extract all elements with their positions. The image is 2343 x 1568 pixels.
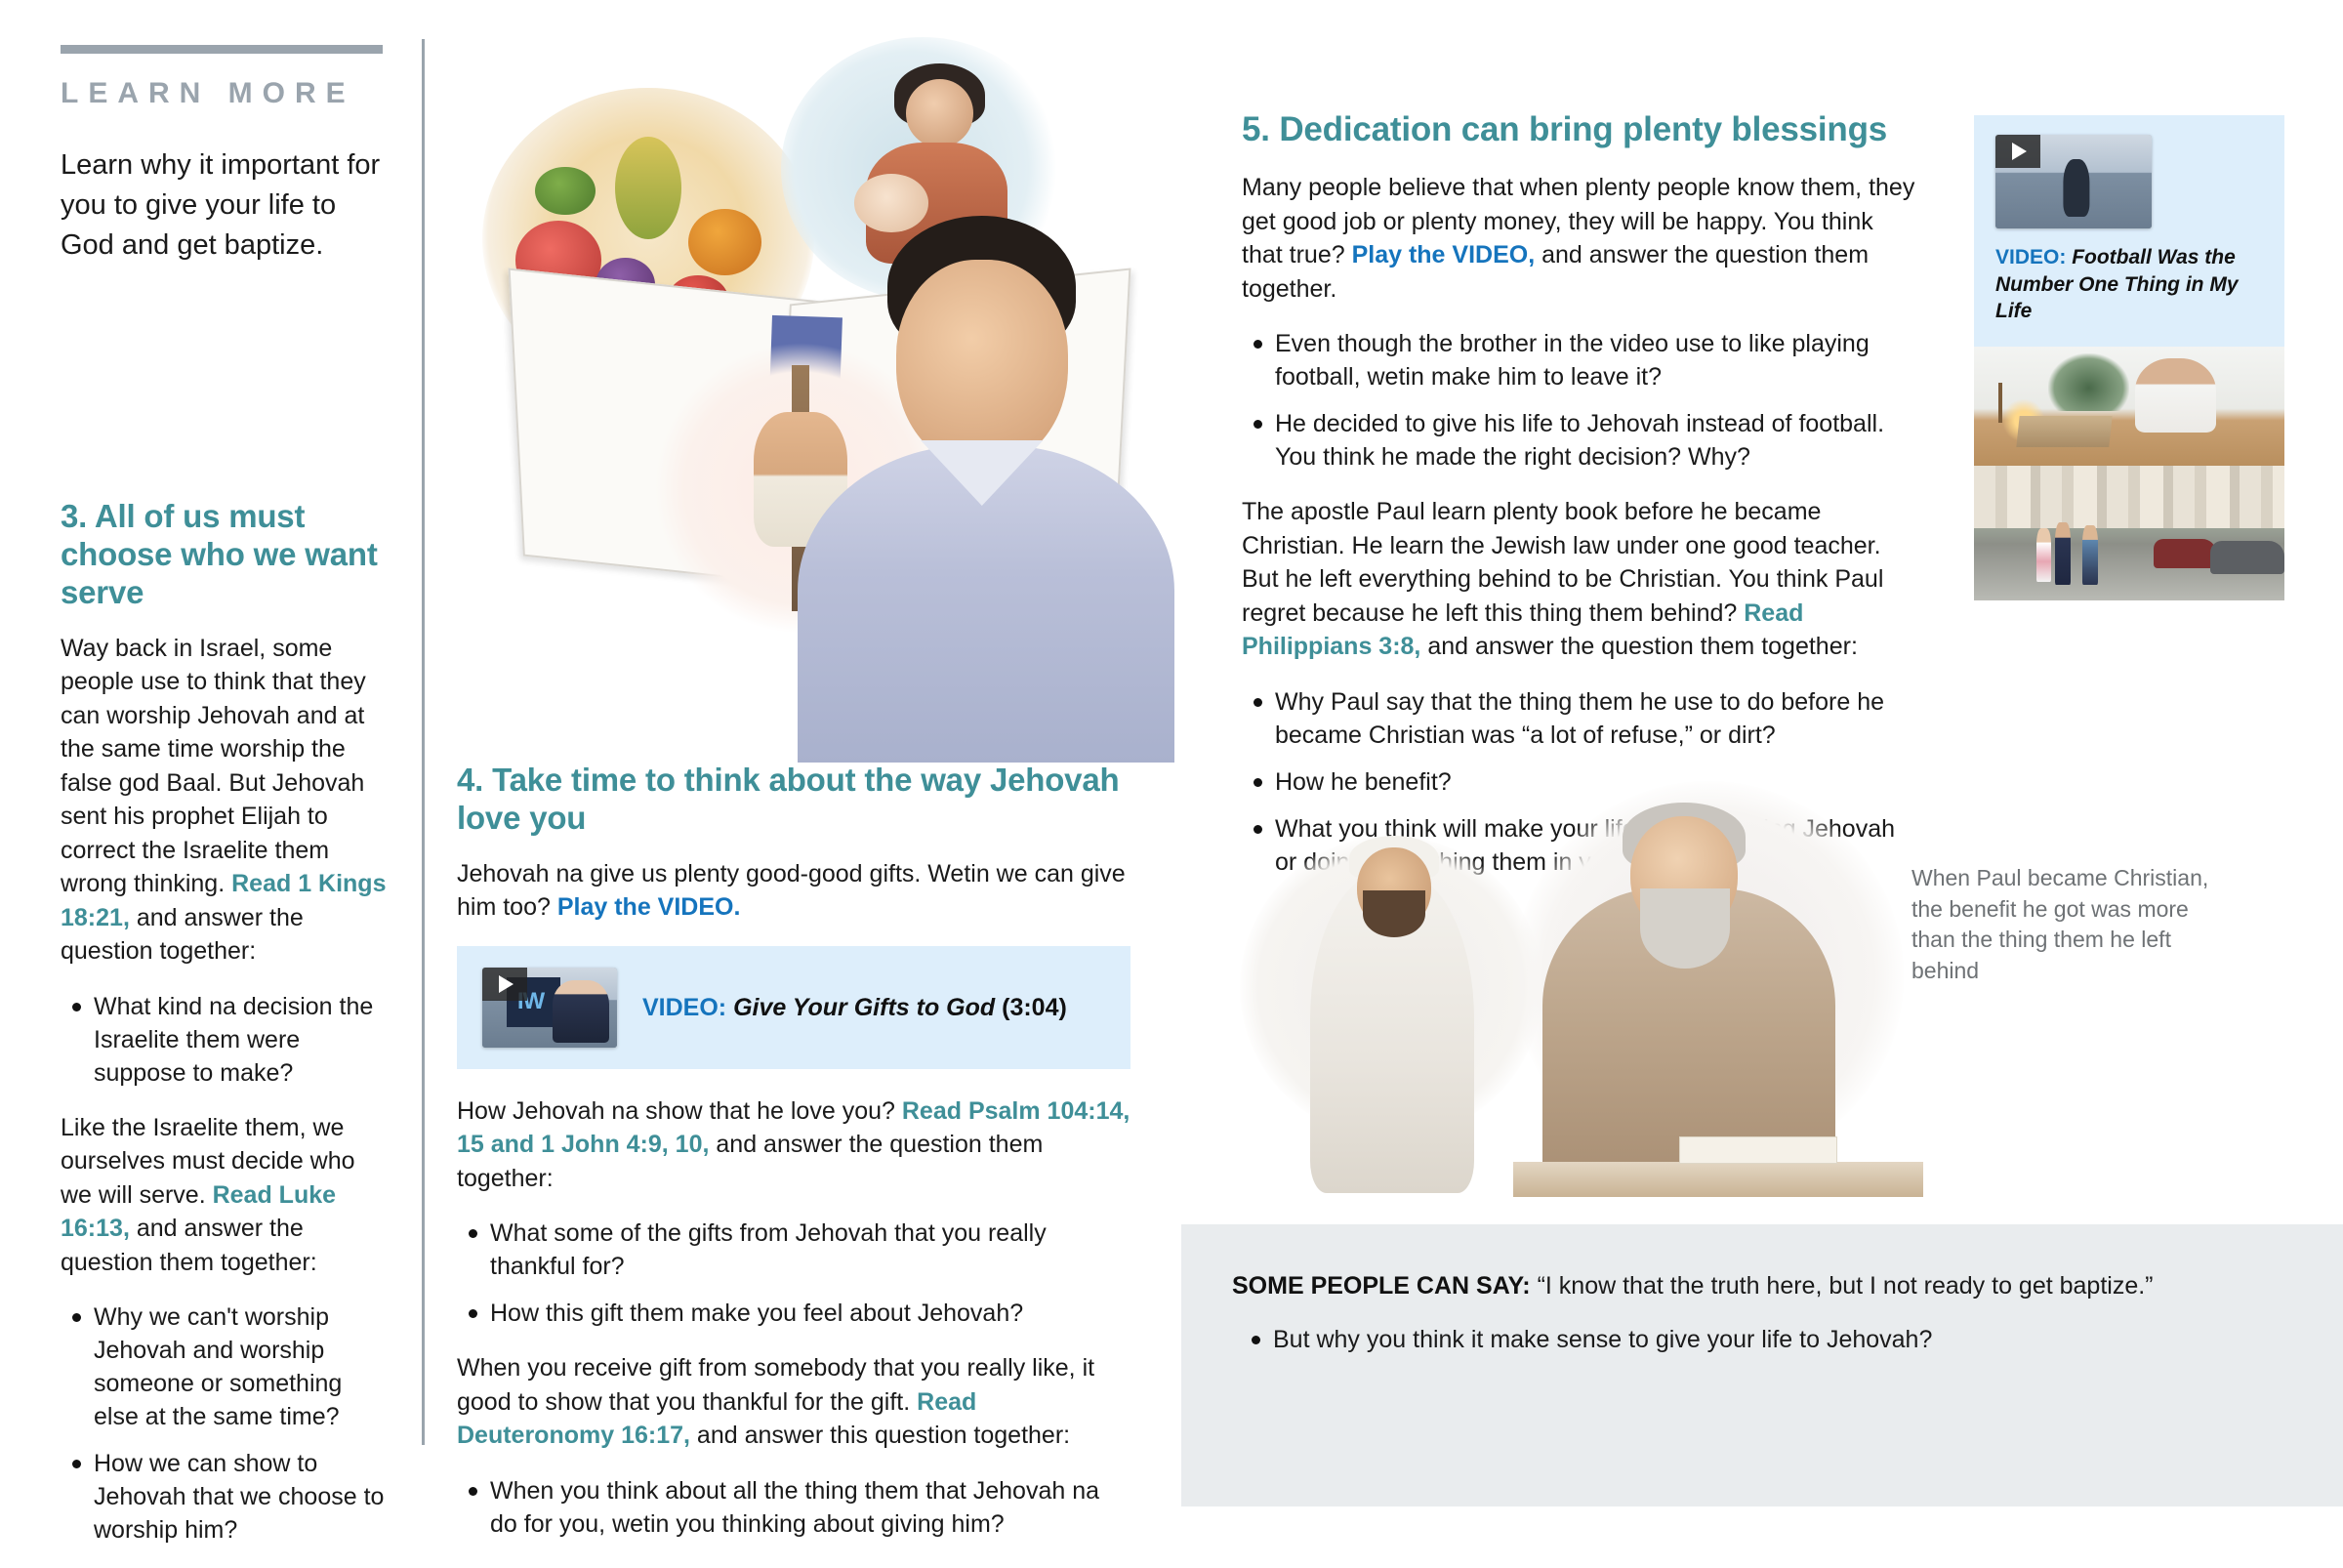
section-5-paragraph-1: Many people believe that when plenty peo… [1242, 171, 1915, 306]
smiling-man-illustration [781, 205, 1191, 752]
section-4-paragraph-3: When you receive gift from somebody that… [457, 1351, 1130, 1453]
list-item: What kind na decision the Israelite them… [94, 990, 392, 1090]
illustration-gifts-collage [459, 20, 1162, 762]
some-people-can-say-panel: SOME PEOPLE CAN SAY: “I know that the tr… [1181, 1224, 2343, 1506]
section-4-paragraph-2: How Jehovah na show that he love you? Re… [457, 1094, 1130, 1196]
list-item: But why you think it make sense to give … [1273, 1323, 2292, 1356]
section-5-question-list-2: Why Paul say that the thing them he use … [1242, 685, 1915, 879]
section-3: 3. All of us must choose who we want ser… [61, 498, 392, 1568]
section-5-question-list-1: Even though the brother in the video use… [1242, 327, 1915, 474]
say-question-list: But why you think it make sense to give … [1232, 1323, 2292, 1356]
s4-p3-text-a: When you receive gift from somebody that… [457, 1354, 1094, 1416]
photo-street-witnessing [1974, 466, 2284, 600]
section-3-question-list-1: What kind na decision the Israelite them… [61, 990, 392, 1090]
say-quote: “I know that the truth here, but I not r… [1538, 1272, 2154, 1300]
video-caption: VIDEO: Football Was the Number One Thing… [1995, 244, 2263, 325]
section-4: 4. Take time to think about the way Jeho… [457, 762, 1130, 1562]
header-rule [61, 45, 383, 54]
open-bible-illustration [459, 20, 781, 254]
section-5-paragraph-2: The apostle Paul learn plenty book befor… [1242, 495, 1915, 664]
section-3-heading: 3. All of us must choose who we want ser… [61, 498, 392, 612]
list-item: Why we can't worship Jehovah and worship… [94, 1300, 392, 1433]
video-title: Give Your Gifts to God [733, 994, 995, 1021]
video-label: VIDEO: [642, 994, 726, 1021]
s4-p3-text-b: and answer this question together: [690, 1422, 1070, 1449]
video-caption: VIDEO: Give Your Gifts to God (3:04) [642, 992, 1067, 1024]
ransom-illustration [654, 342, 947, 635]
section-4-paragraph-1: Jehovah na give us plenty good-good gift… [457, 857, 1130, 925]
list-item: What some of the gifts from Jehovah that… [490, 1217, 1130, 1283]
play-video-link-football[interactable]: Play the VIDEO, [1352, 241, 1536, 268]
section-3-question-list-2: Why we can't worship Jehovah and worship… [61, 1300, 392, 1547]
intro-paragraph: Learn why it important for you to give y… [61, 145, 390, 267]
video-duration: (3:04) [1002, 994, 1067, 1021]
video-card-give-your-gifts[interactable]: IW VIDEO: Give Your Gifts to God (3:04) [457, 946, 1130, 1069]
video-thumbnail[interactable] [1995, 135, 2152, 228]
photo-man-studying-at-desk [1974, 347, 2284, 466]
paul-illustration-caption: When Paul became Christian, the benefit … [1911, 863, 2234, 987]
video-card-football[interactable]: VIDEO: Football Was the Number One Thing… [1974, 115, 2284, 347]
list-item: Why Paul say that the thing them he use … [1275, 685, 1915, 752]
section-4-heading: 4. Take time to think about the way Jeho… [457, 762, 1130, 838]
play-icon[interactable] [482, 968, 527, 1001]
play-icon[interactable] [1995, 135, 2040, 168]
play-video-link-gifts[interactable]: Play the VIDEO. [557, 893, 741, 921]
list-item: When you think about all the thing them … [490, 1474, 1130, 1541]
section-4-question-list-2: When you think about all the thing them … [457, 1474, 1130, 1541]
left-column-header: LEARN MORE Learn why it important for yo… [61, 45, 390, 267]
brochure-spread: LEARN MORE Learn why it important for yo… [0, 0, 2343, 1506]
say-label: SOME PEOPLE CAN SAY: [1232, 1272, 1531, 1300]
list-item: How we can show to Jehovah that we choos… [94, 1447, 392, 1547]
section-4-question-list-1: What some of the gifts from Jehovah that… [457, 1217, 1130, 1330]
section-5: 5. Dedication can bring plenty blessings… [1242, 109, 1915, 900]
mother-and-baby-illustration [781, 37, 1064, 301]
section-5-heading: 5. Dedication can bring plenty blessings [1242, 109, 1915, 149]
s3-p1-text-a: Way back in Israel, some people use to t… [61, 635, 366, 898]
video-label: VIDEO: [1995, 246, 2066, 268]
right-media-rail: VIDEO: Football Was the Number One Thing… [1974, 115, 2284, 600]
section-3-paragraph-1: Way back in Israel, some people use to t… [61, 632, 392, 969]
food-illustration [482, 88, 814, 391]
list-item: How he benefit? [1275, 765, 1915, 799]
s5-p2-text-b: and answer the question them together: [1420, 633, 1858, 660]
list-item: What you think will make your life bette… [1275, 812, 1915, 879]
section-3-paragraph-2: Like the Israelite them, we ourselves mu… [61, 1111, 392, 1280]
s4-p2-text-a: How Jehovah na show that he love you? [457, 1097, 902, 1125]
video-thumbnail[interactable]: IW [482, 968, 617, 1048]
list-item: Even though the brother in the video use… [1275, 327, 1915, 393]
kicker-learn-more: LEARN MORE [61, 77, 390, 110]
column-divider [422, 39, 425, 1445]
list-item: He decided to give his life to Jehovah i… [1275, 407, 1915, 474]
say-line: SOME PEOPLE CAN SAY: “I know that the tr… [1232, 1269, 2292, 1303]
list-item: How this gift them make you feel about J… [490, 1297, 1130, 1330]
